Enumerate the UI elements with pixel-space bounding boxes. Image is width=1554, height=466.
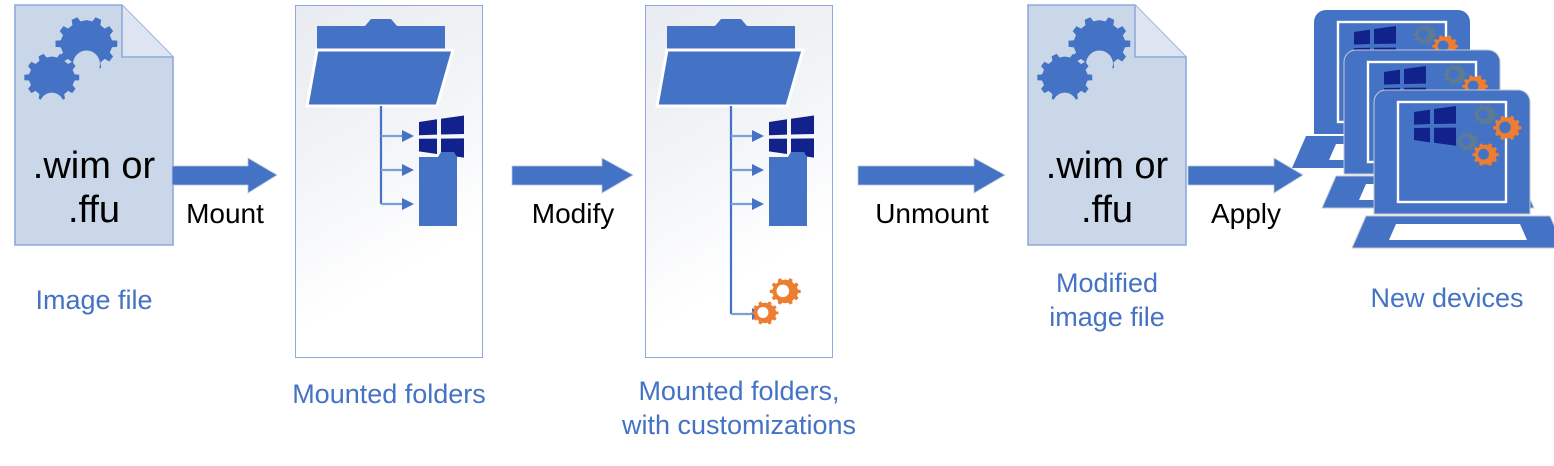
open-folder-icon [307, 19, 453, 106]
caption-new-devices: New devices [1340, 281, 1554, 315]
laptop-front [1352, 90, 1554, 248]
mounted-folders-contents [305, 14, 475, 279]
arrow-modify [512, 158, 634, 200]
open-folder-icon [657, 19, 803, 106]
caption-mounted-folders: Mounted folders [269, 377, 509, 411]
laptop-stack-icon [1298, 4, 1548, 256]
arrow-unmount [858, 158, 1006, 200]
windows-logo-icon [769, 116, 814, 158]
caption-image-file: Image file [4, 283, 184, 317]
windows-logo-icon [419, 116, 464, 158]
arrow-apply [1188, 158, 1304, 200]
arrow-label-apply: Apply [1188, 198, 1304, 230]
folder-icon [769, 186, 807, 226]
mounted-folders-customized-contents [655, 14, 835, 344]
step-new-devices [1298, 4, 1548, 256]
caption-mounted-folders-customized: Mounted folders, with customizations [609, 374, 869, 442]
doc-text-modified-image-file: .wim or .ffu [1027, 144, 1187, 232]
gears-orange-icon [752, 278, 801, 324]
arrow-mount [172, 158, 278, 200]
diagram-canvas: .wim or .ffu Image file Mount [0, 0, 1554, 466]
arrow-label-unmount: Unmount [858, 198, 1006, 230]
caption-modified-image-file: Modified image file [1017, 266, 1197, 334]
arrow-label-modify: Modify [512, 198, 634, 230]
arrow-label-mount: Mount [172, 198, 278, 230]
doc-text-image-file: .wim or .ffu [14, 144, 174, 232]
folder-icon [419, 186, 457, 226]
